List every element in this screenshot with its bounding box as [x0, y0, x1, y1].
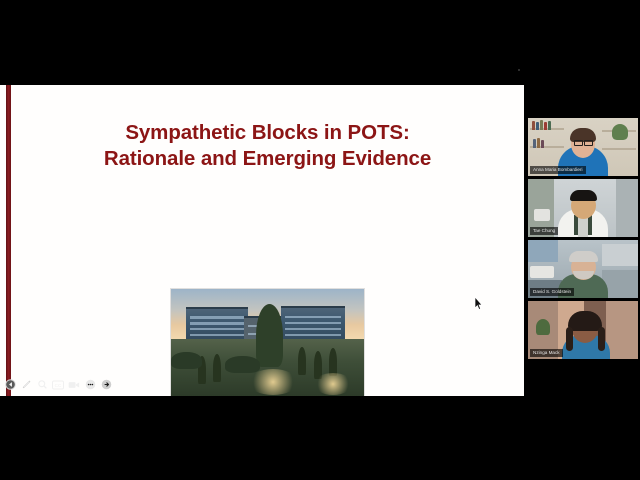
pointer-back-icon[interactable] — [4, 379, 16, 391]
video-camera-icon[interactable] — [68, 379, 80, 391]
share-arrow-icon[interactable] — [100, 379, 112, 391]
slide-title: Sympathetic Blocks in POTS: Rationale an… — [11, 120, 524, 172]
photo-shrub-1 — [171, 352, 202, 369]
participant-name-3: David S. Goldstein — [530, 288, 574, 296]
slide-canvas: Sympathetic Blocks in POTS: Rationale an… — [11, 85, 524, 396]
participant-name-4: Nzinga Mack — [530, 349, 563, 357]
photo-building-left — [186, 307, 248, 341]
photo-shrub-2 — [225, 356, 260, 373]
chat-bubble-icon[interactable] — [84, 379, 96, 391]
pen-icon[interactable] — [20, 379, 32, 391]
photo-tree-main — [256, 304, 283, 367]
mouse-cursor-icon — [474, 297, 483, 310]
hospital-photo — [171, 289, 364, 396]
photo-cypress-4 — [213, 354, 221, 382]
svg-text:CC: CC — [55, 382, 62, 387]
share-viewer-toolbar[interactable]: CC — [2, 377, 114, 392]
slide-title-line-1: Sympathetic Blocks in POTS: — [11, 120, 524, 146]
participant-tile-4[interactable]: Nzinga Mack — [528, 301, 638, 359]
screen-artifact-dot — [518, 69, 520, 71]
participant-name-1: Anna Maria Bombardieri — [530, 166, 586, 174]
slide-title-line-2: Rationale and Emerging Evidence — [11, 146, 524, 172]
participant-name-2: Tae Chung — [530, 227, 558, 235]
participant-tile-1[interactable]: Anna Maria Bombardieri — [528, 118, 638, 176]
photo-building-right — [281, 306, 345, 341]
photo-cypress-1 — [298, 347, 306, 375]
closed-caption-icon[interactable]: CC — [52, 379, 64, 391]
magnifier-icon[interactable] — [36, 379, 48, 391]
photo-fountain-light — [314, 373, 353, 395]
shared-screen-slide[interactable]: Sympathetic Blocks in POTS: Rationale an… — [0, 85, 524, 396]
video-conference-window: Sympathetic Blocks in POTS: Rationale an… — [0, 0, 640, 480]
participant-tile-3[interactable]: David S. Goldstein — [528, 240, 638, 298]
participant-tile-2[interactable]: Tae Chung — [528, 179, 638, 237]
participant-filmstrip[interactable]: Anna Maria Bombardieri Tae Chung — [525, 0, 640, 480]
photo-plaza-light — [248, 369, 298, 395]
